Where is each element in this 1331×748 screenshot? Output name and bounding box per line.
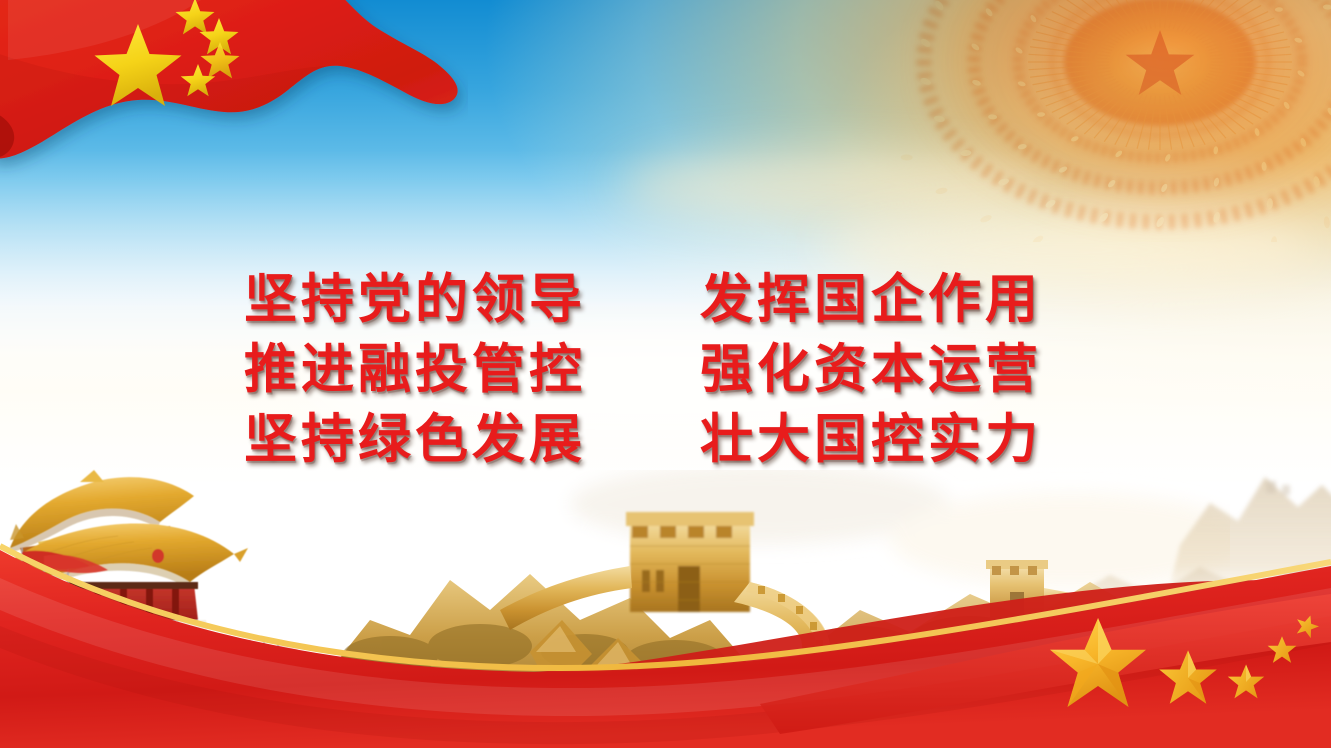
slogan-right-2: 强化资本运营 [666, 334, 1096, 404]
slogan-text-block: 坚持党的领导 发挥国企作用 推进融投管控 强化资本运营 坚持绿色发展 壮大国控实… [236, 264, 1096, 474]
slogan-left-3: 坚持绿色发展 [236, 404, 666, 474]
slogan-right-1: 发挥国企作用 [666, 264, 1096, 334]
national-flag-china [0, 0, 468, 180]
sunburst-medallion [900, 0, 1331, 242]
slogan-left-1: 坚持党的领导 [236, 264, 666, 334]
slogan-left-2: 推进融投管控 [236, 334, 666, 404]
propaganda-poster: 中华人民共和国万岁 世界人民大团结万岁 [0, 0, 1331, 748]
red-ribbon-wave [0, 518, 1331, 748]
slogan-right-3: 壮大国控实力 [666, 404, 1096, 474]
